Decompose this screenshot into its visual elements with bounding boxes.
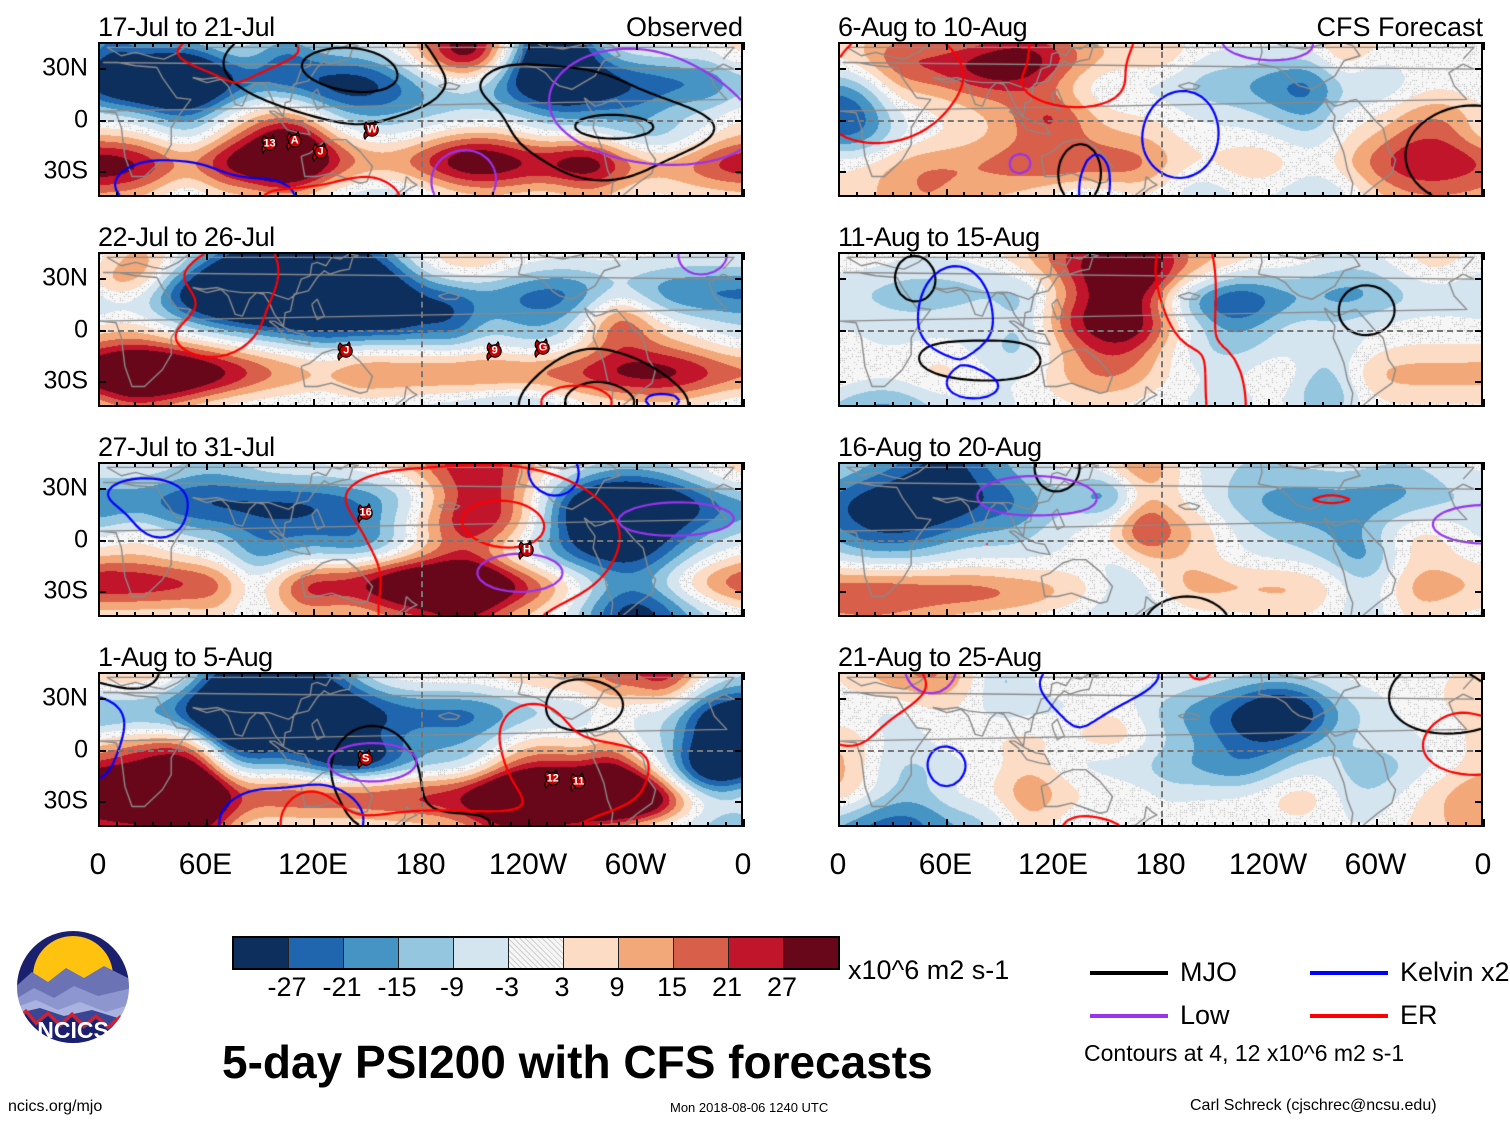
x-tick-major bbox=[206, 819, 208, 827]
x-tick-minor bbox=[1196, 402, 1198, 407]
x-tick-minor bbox=[999, 462, 1001, 467]
x-tick-major bbox=[313, 462, 315, 470]
x-tick-minor bbox=[331, 42, 333, 47]
x-tick-minor bbox=[385, 822, 387, 827]
x-tick-minor bbox=[1411, 252, 1413, 257]
x-tick-major bbox=[636, 462, 638, 470]
x-tick-minor bbox=[856, 192, 858, 197]
x-tick-minor bbox=[223, 402, 225, 407]
x-tick-minor bbox=[963, 192, 965, 197]
x-tick-minor bbox=[618, 822, 620, 827]
x-tick-minor bbox=[116, 612, 118, 617]
panel-title: 27-Jul to 31-Jul bbox=[98, 432, 275, 463]
x-tick-minor bbox=[546, 462, 548, 467]
colorbar-tick-label: 3 bbox=[554, 972, 569, 1003]
x-tick-minor bbox=[928, 462, 930, 467]
tropical-cyclone-marker: 16 bbox=[355, 501, 377, 525]
x-tick-minor bbox=[1465, 462, 1467, 467]
x-tick-minor bbox=[671, 252, 673, 257]
colorbar-swatch bbox=[674, 938, 729, 968]
x-tick-minor bbox=[349, 402, 351, 407]
x-tick-minor bbox=[1358, 612, 1360, 617]
x-tick-minor bbox=[856, 612, 858, 617]
x-tick-minor bbox=[707, 192, 709, 197]
x-tick-minor bbox=[981, 612, 983, 617]
x-tick-minor bbox=[1304, 462, 1306, 467]
x-tick-minor bbox=[116, 822, 118, 827]
x-tick-major bbox=[743, 609, 745, 617]
x-tick-major bbox=[206, 252, 208, 260]
x-tick-minor bbox=[892, 672, 894, 677]
x-tick-minor bbox=[1411, 672, 1413, 677]
x-tick-minor bbox=[277, 42, 279, 47]
colorbar-tick-label: 27 bbox=[767, 972, 797, 1003]
x-axis-tick-label: 180 bbox=[1135, 848, 1185, 882]
x-tick-major bbox=[636, 672, 638, 680]
x-tick-minor bbox=[385, 462, 387, 467]
x-tick-minor bbox=[564, 672, 566, 677]
x-tick-minor bbox=[1089, 612, 1091, 617]
x-tick-minor bbox=[1304, 42, 1306, 47]
x-tick-minor bbox=[689, 462, 691, 467]
x-axis-tick-label: 60W bbox=[1345, 848, 1407, 882]
x-tick-major bbox=[1376, 609, 1378, 617]
x-tick-minor bbox=[874, 462, 876, 467]
x-tick-major bbox=[528, 42, 530, 50]
x-tick-minor bbox=[874, 42, 876, 47]
x-tick-minor bbox=[856, 42, 858, 47]
x-tick-minor bbox=[546, 822, 548, 827]
x-tick-minor bbox=[1125, 192, 1127, 197]
x-tick-minor bbox=[1465, 42, 1467, 47]
x-tick-minor bbox=[1089, 42, 1091, 47]
x-tick-minor bbox=[981, 252, 983, 257]
x-tick-minor bbox=[1286, 612, 1288, 617]
x-tick-minor bbox=[1286, 192, 1288, 197]
x-tick-major bbox=[206, 609, 208, 617]
x-tick-major bbox=[206, 672, 208, 680]
x-tick-minor bbox=[1393, 822, 1395, 827]
x-tick-minor bbox=[188, 252, 190, 257]
y-tick bbox=[98, 540, 106, 542]
x-tick-minor bbox=[963, 822, 965, 827]
x-tick-minor bbox=[671, 192, 673, 197]
x-tick-minor bbox=[1393, 402, 1395, 407]
x-tick-major bbox=[421, 672, 423, 680]
x-tick-minor bbox=[1447, 672, 1449, 677]
y-tick-label: 30N bbox=[42, 53, 88, 82]
x-tick-minor bbox=[928, 42, 930, 47]
x-tick-minor bbox=[259, 822, 261, 827]
x-tick-minor bbox=[1322, 612, 1324, 617]
x-tick-minor bbox=[1250, 822, 1252, 827]
x-tick-minor bbox=[981, 192, 983, 197]
x-tick-minor bbox=[367, 612, 369, 617]
x-tick-minor bbox=[1250, 402, 1252, 407]
x-tick-minor bbox=[928, 402, 930, 407]
x-tick-minor bbox=[223, 42, 225, 47]
y-tick bbox=[1475, 68, 1483, 70]
x-tick-minor bbox=[403, 252, 405, 257]
x-tick-minor bbox=[474, 672, 476, 677]
x-tick-major bbox=[1161, 42, 1163, 50]
x-tick-minor bbox=[618, 252, 620, 257]
x-tick-minor bbox=[1322, 192, 1324, 197]
y-tick bbox=[838, 278, 846, 280]
x-tick-minor bbox=[1322, 822, 1324, 827]
y-tick bbox=[838, 488, 846, 490]
x-tick-minor bbox=[1411, 462, 1413, 467]
y-tick bbox=[838, 750, 846, 752]
x-tick-minor bbox=[653, 612, 655, 617]
x-tick-major bbox=[1161, 462, 1163, 470]
x-tick-minor bbox=[510, 612, 512, 617]
x-tick-minor bbox=[963, 252, 965, 257]
x-tick-minor bbox=[725, 822, 727, 827]
x-tick-minor bbox=[671, 672, 673, 677]
x-tick-minor bbox=[1017, 42, 1019, 47]
x-tick-major bbox=[98, 819, 100, 827]
x-tick-minor bbox=[510, 192, 512, 197]
x-tick-minor bbox=[725, 612, 727, 617]
x-tick-minor bbox=[999, 822, 1001, 827]
y-tick bbox=[1475, 750, 1483, 752]
cyclone-label: H bbox=[523, 545, 531, 556]
x-tick-minor bbox=[725, 252, 727, 257]
y-tick bbox=[735, 381, 743, 383]
x-tick-minor bbox=[134, 252, 136, 257]
cyclone-label: 13 bbox=[263, 139, 275, 150]
x-tick-minor bbox=[1178, 252, 1180, 257]
x-tick-major bbox=[1161, 609, 1163, 617]
x-tick-major bbox=[98, 609, 100, 617]
legend-label-low: Low bbox=[1180, 1000, 1230, 1031]
x-tick-major bbox=[838, 819, 840, 827]
x-tick-minor bbox=[438, 42, 440, 47]
x-tick-minor bbox=[546, 612, 548, 617]
colorbar-swatch bbox=[509, 938, 564, 968]
colorbar-swatch bbox=[399, 938, 454, 968]
x-tick-minor bbox=[295, 672, 297, 677]
x-tick-minor bbox=[1017, 252, 1019, 257]
x-tick-major bbox=[1161, 399, 1163, 407]
x-tick-minor bbox=[1232, 402, 1234, 407]
x-tick-minor bbox=[474, 612, 476, 617]
y-tick bbox=[98, 171, 106, 173]
x-tick-major bbox=[1161, 189, 1163, 197]
colorbar bbox=[232, 936, 840, 970]
x-tick-minor bbox=[403, 192, 405, 197]
x-tick-minor bbox=[170, 612, 172, 617]
x-tick-minor bbox=[600, 462, 602, 467]
x-tick-major bbox=[946, 819, 948, 827]
x-tick-major bbox=[1483, 819, 1485, 827]
x-tick-minor bbox=[1214, 612, 1216, 617]
x-tick-minor bbox=[546, 42, 548, 47]
x-tick-minor bbox=[241, 252, 243, 257]
x-axis-tick-label: 120E bbox=[1018, 848, 1088, 882]
y-tick bbox=[1475, 171, 1483, 173]
x-axis-tick-label: 180 bbox=[395, 848, 445, 882]
x-tick-minor bbox=[1089, 822, 1091, 827]
x-tick-major bbox=[946, 672, 948, 680]
y-tick bbox=[735, 591, 743, 593]
x-axis-tick-label: 120W bbox=[1229, 848, 1307, 882]
x-tick-minor bbox=[874, 672, 876, 677]
x-tick-major bbox=[1376, 462, 1378, 470]
x-tick-minor bbox=[582, 42, 584, 47]
x-tick-minor bbox=[1035, 252, 1037, 257]
panel-title: 6-Aug to 10-Aug bbox=[838, 12, 1027, 43]
y-tick bbox=[838, 591, 846, 593]
x-tick-minor bbox=[1393, 42, 1395, 47]
x-tick-minor bbox=[892, 42, 894, 47]
x-tick-minor bbox=[1393, 252, 1395, 257]
x-tick-minor bbox=[892, 252, 894, 257]
y-tick bbox=[838, 120, 846, 122]
x-tick-major bbox=[206, 189, 208, 197]
x-tick-minor bbox=[874, 192, 876, 197]
x-tick-major bbox=[743, 189, 745, 197]
x-tick-minor bbox=[438, 402, 440, 407]
x-axis-tick-label: 60E bbox=[919, 848, 972, 882]
x-tick-minor bbox=[1125, 672, 1127, 677]
x-tick-minor bbox=[1089, 252, 1091, 257]
x-tick-minor bbox=[241, 42, 243, 47]
y-tick bbox=[838, 68, 846, 70]
x-tick-major bbox=[636, 42, 638, 50]
x-tick-major bbox=[838, 462, 840, 470]
x-tick-major bbox=[1161, 819, 1163, 827]
x-tick-minor bbox=[856, 462, 858, 467]
x-tick-minor bbox=[653, 672, 655, 677]
x-tick-major bbox=[838, 189, 840, 197]
x-tick-minor bbox=[367, 822, 369, 827]
colorbar-swatch bbox=[564, 938, 619, 968]
x-tick-minor bbox=[1340, 192, 1342, 197]
y-tick bbox=[98, 698, 106, 700]
x-tick-minor bbox=[653, 42, 655, 47]
x-tick-minor bbox=[403, 672, 405, 677]
x-tick-minor bbox=[600, 252, 602, 257]
x-tick-minor bbox=[1429, 402, 1431, 407]
x-tick-minor bbox=[1017, 822, 1019, 827]
x-tick-minor bbox=[1017, 672, 1019, 677]
x-tick-minor bbox=[1358, 402, 1360, 407]
legend-swatch-low bbox=[1090, 1014, 1168, 1018]
y-tick bbox=[838, 540, 846, 542]
x-tick-minor bbox=[1447, 252, 1449, 257]
panel-5: 6-Aug to 10-AugCFS Forecast bbox=[838, 42, 1483, 197]
x-tick-minor bbox=[689, 672, 691, 677]
dateline bbox=[421, 672, 423, 827]
dateline bbox=[1161, 42, 1163, 197]
panel-6: 11-Aug to 15-Aug bbox=[838, 252, 1483, 407]
x-tick-minor bbox=[1322, 462, 1324, 467]
x-tick-minor bbox=[277, 252, 279, 257]
x-tick-major bbox=[838, 252, 840, 260]
x-tick-minor bbox=[981, 822, 983, 827]
x-tick-minor bbox=[1286, 42, 1288, 47]
x-tick-minor bbox=[116, 672, 118, 677]
x-tick-minor bbox=[653, 822, 655, 827]
x-tick-minor bbox=[1178, 672, 1180, 677]
x-tick-minor bbox=[367, 462, 369, 467]
x-tick-minor bbox=[474, 402, 476, 407]
x-tick-minor bbox=[170, 822, 172, 827]
x-tick-major bbox=[1161, 252, 1163, 260]
x-tick-major bbox=[1268, 189, 1270, 197]
x-tick-minor bbox=[1250, 252, 1252, 257]
y-tick bbox=[98, 68, 106, 70]
x-tick-minor bbox=[1322, 42, 1324, 47]
x-tick-major bbox=[1161, 672, 1163, 680]
x-tick-major bbox=[313, 42, 315, 50]
x-tick-minor bbox=[1250, 42, 1252, 47]
x-tick-minor bbox=[1196, 462, 1198, 467]
x-tick-minor bbox=[1286, 672, 1288, 677]
y-tick bbox=[1475, 381, 1483, 383]
x-tick-minor bbox=[277, 612, 279, 617]
x-tick-minor bbox=[707, 42, 709, 47]
x-tick-minor bbox=[564, 42, 566, 47]
x-tick-major bbox=[636, 189, 638, 197]
y-tick-label: 0 bbox=[74, 735, 88, 764]
x-tick-minor bbox=[1017, 402, 1019, 407]
x-tick-minor bbox=[241, 822, 243, 827]
x-tick-minor bbox=[1035, 192, 1037, 197]
x-tick-minor bbox=[134, 462, 136, 467]
x-tick-minor bbox=[259, 402, 261, 407]
x-tick-minor bbox=[910, 672, 912, 677]
colorbar-swatch bbox=[729, 938, 784, 968]
x-tick-minor bbox=[1429, 462, 1431, 467]
x-tick-minor bbox=[1089, 462, 1091, 467]
colorbar-tick-label: -9 bbox=[440, 972, 464, 1003]
y-tick bbox=[838, 171, 846, 173]
site-link[interactable]: ncics.org/mjo bbox=[8, 1098, 102, 1116]
x-tick-minor bbox=[1071, 252, 1073, 257]
x-tick-minor bbox=[188, 42, 190, 47]
x-tick-major bbox=[313, 672, 315, 680]
x-tick-minor bbox=[1358, 462, 1360, 467]
x-tick-major bbox=[98, 42, 100, 50]
x-tick-minor bbox=[1107, 672, 1109, 677]
x-tick-minor bbox=[385, 402, 387, 407]
x-tick-minor bbox=[1304, 402, 1306, 407]
x-tick-major bbox=[1483, 672, 1485, 680]
x-tick-minor bbox=[438, 822, 440, 827]
x-tick-major bbox=[743, 672, 745, 680]
x-tick-minor bbox=[403, 42, 405, 47]
x-tick-minor bbox=[1465, 192, 1467, 197]
x-tick-minor bbox=[116, 252, 118, 257]
x-tick-minor bbox=[725, 42, 727, 47]
x-tick-major bbox=[1053, 462, 1055, 470]
x-tick-minor bbox=[223, 192, 225, 197]
tropical-cyclone-marker: G bbox=[532, 336, 554, 360]
x-tick-minor bbox=[403, 822, 405, 827]
x-tick-minor bbox=[367, 192, 369, 197]
x-tick-major bbox=[313, 189, 315, 197]
y-tick bbox=[98, 591, 106, 593]
x-tick-major bbox=[636, 252, 638, 260]
x-tick-minor bbox=[188, 672, 190, 677]
x-tick-minor bbox=[1304, 822, 1306, 827]
x-tick-minor bbox=[1143, 462, 1145, 467]
y-tick-label: 30S bbox=[44, 577, 88, 606]
x-tick-minor bbox=[1232, 192, 1234, 197]
x-tick-major bbox=[946, 462, 948, 470]
x-tick-minor bbox=[170, 462, 172, 467]
x-tick-minor bbox=[1232, 42, 1234, 47]
x-tick-minor bbox=[928, 252, 930, 257]
x-tick-minor bbox=[438, 462, 440, 467]
y-tick-label: 0 bbox=[74, 525, 88, 554]
y-tick-label: 30S bbox=[44, 157, 88, 186]
x-tick-minor bbox=[152, 462, 154, 467]
x-tick-minor bbox=[403, 612, 405, 617]
x-tick-major bbox=[1376, 399, 1378, 407]
x-tick-minor bbox=[259, 252, 261, 257]
x-tick-minor bbox=[1107, 402, 1109, 407]
x-tick-minor bbox=[564, 252, 566, 257]
x-tick-minor bbox=[492, 462, 494, 467]
x-tick-minor bbox=[403, 402, 405, 407]
x-tick-minor bbox=[600, 822, 602, 827]
x-tick-minor bbox=[707, 822, 709, 827]
column-header: CFS Forecast bbox=[1316, 12, 1483, 43]
x-tick-major bbox=[1376, 189, 1378, 197]
x-tick-minor bbox=[1340, 402, 1342, 407]
y-tick bbox=[98, 330, 106, 332]
x-tick-minor bbox=[241, 672, 243, 677]
x-tick-minor bbox=[385, 252, 387, 257]
x-tick-major bbox=[421, 189, 423, 197]
x-tick-major bbox=[1053, 189, 1055, 197]
x-tick-minor bbox=[134, 672, 136, 677]
x-tick-minor bbox=[564, 822, 566, 827]
colorbar-units-label: x10^6 m2 s-1 bbox=[848, 955, 1009, 986]
x-tick-minor bbox=[928, 192, 930, 197]
x-tick-minor bbox=[1035, 42, 1037, 47]
y-tick bbox=[735, 330, 743, 332]
y-tick bbox=[1475, 488, 1483, 490]
x-tick-minor bbox=[349, 192, 351, 197]
x-tick-minor bbox=[963, 402, 965, 407]
x-tick-minor bbox=[1322, 672, 1324, 677]
x-tick-minor bbox=[1340, 612, 1342, 617]
x-tick-minor bbox=[564, 402, 566, 407]
x-tick-minor bbox=[981, 402, 983, 407]
x-tick-minor bbox=[456, 402, 458, 407]
panel-1: 17-Jul to 21-JulObserved30N030S13AJW bbox=[98, 42, 743, 197]
x-tick-major bbox=[946, 189, 948, 197]
x-tick-minor bbox=[1250, 462, 1252, 467]
x-tick-minor bbox=[1429, 42, 1431, 47]
x-tick-minor bbox=[510, 402, 512, 407]
x-tick-minor bbox=[618, 402, 620, 407]
x-tick-minor bbox=[349, 612, 351, 617]
y-tick bbox=[735, 540, 743, 542]
x-tick-minor bbox=[1214, 252, 1216, 257]
tropical-cyclone-marker: 11 bbox=[568, 770, 590, 794]
x-tick-minor bbox=[1465, 402, 1467, 407]
x-axis-tick-label: 0 bbox=[735, 848, 752, 882]
x-tick-major bbox=[1053, 819, 1055, 827]
x-tick-minor bbox=[999, 42, 1001, 47]
panel-title: 1-Aug to 5-Aug bbox=[98, 642, 273, 673]
